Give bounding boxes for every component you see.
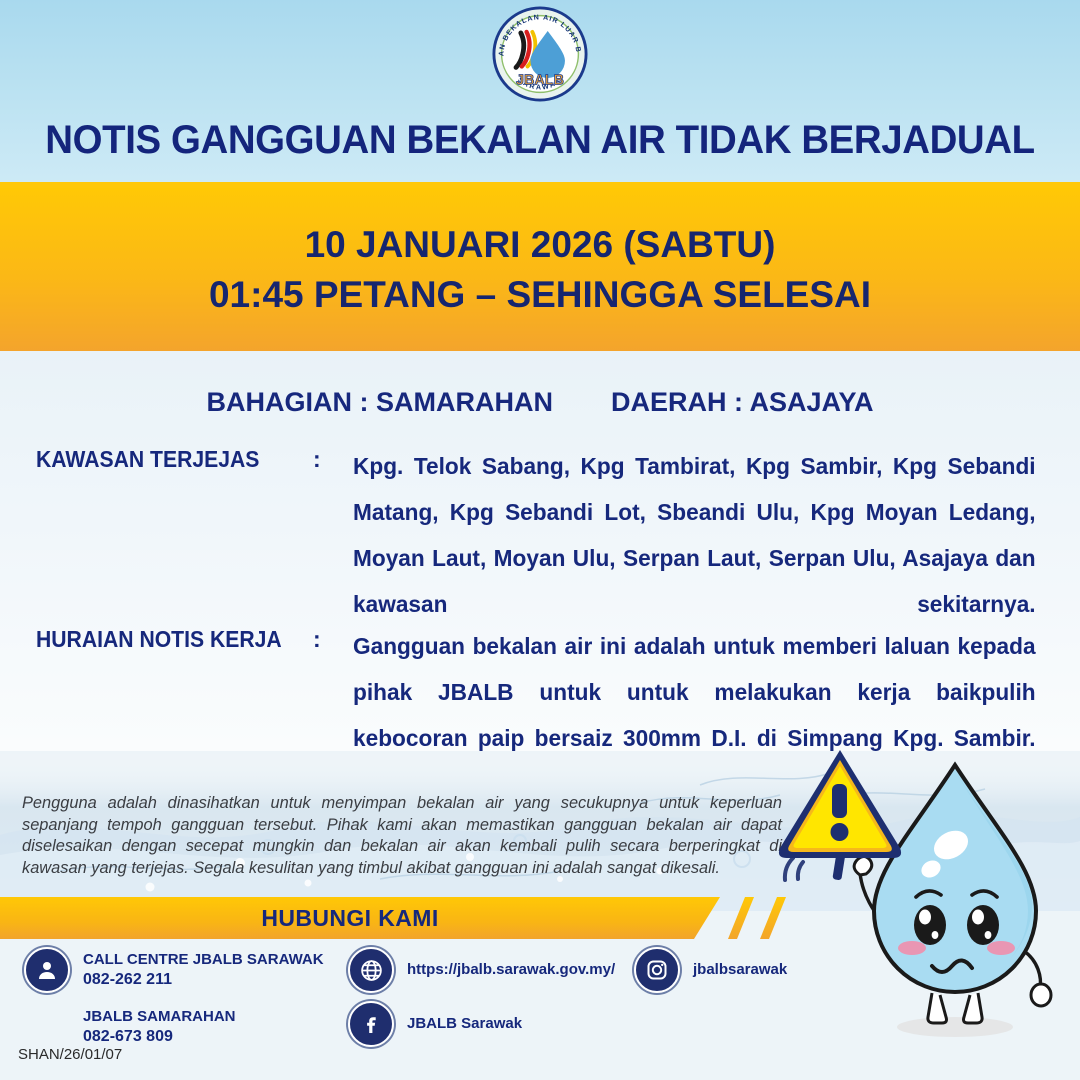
affected-areas-label: KAWASAN TERJEJAS <box>36 443 291 473</box>
poster-title: NOTIS GANGGUAN BEKALAN AIR TIDAK BERJADU… <box>22 118 1059 163</box>
contact-banner-title: HUBUNGI KAMI <box>0 897 700 939</box>
region-row: BAHAGIAN : SAMARAHAN DAERAH : ASAJAYA <box>0 387 1080 418</box>
facebook-icon <box>348 1001 394 1047</box>
work-description-colon: : <box>313 623 353 653</box>
notice-date: 10 JANUARI 2026 (SABTU) <box>305 224 776 266</box>
person-icon <box>24 947 70 993</box>
district-label: DAERAH : ASAJAYA <box>611 387 874 418</box>
reference-code: SHAN/26/01/07 <box>18 1046 122 1063</box>
date-band: 10 JANUARI 2026 (SABTU) 01:45 PETANG – S… <box>0 188 1080 351</box>
banner-stripe-1 <box>728 897 754 939</box>
call-centre-phone[interactable]: 082-262 211 <box>83 970 324 990</box>
jbalb-logo: JABATAN BEKALAN AIR LUAR BANDAR SARAWAK … <box>492 6 588 102</box>
instagram-handle[interactable]: jbalbsarawak <box>693 960 787 980</box>
contact-call-centre[interactable]: CALL CENTRE JBALB SARAWAK 082-262 211 <box>24 947 324 993</box>
warning-sign-icon <box>775 740 910 890</box>
banner-stripe-2 <box>760 897 786 939</box>
samarahan-name: JBALB SAMARAHAN <box>83 1007 236 1027</box>
website-url[interactable]: https://jbalb.sarawak.gov.my/ <box>407 960 615 980</box>
globe-icon <box>348 947 394 993</box>
contact-website[interactable]: https://jbalb.sarawak.gov.my/ <box>348 947 615 993</box>
instagram-icon <box>634 947 680 993</box>
header-band: JABATAN BEKALAN AIR LUAR BANDAR SARAWAK … <box>0 0 1080 188</box>
contact-jbalb-samarahan[interactable]: JBALB SAMARAHAN 082-673 809 <box>83 1007 236 1047</box>
contact-facebook[interactable]: JBALB Sarawak <box>348 1001 522 1047</box>
contact-banner: HUBUNGI KAMI <box>0 897 1080 939</box>
call-centre-name: CALL CENTRE JBALB SARAWAK <box>83 950 324 970</box>
advisory-text: Pengguna adalah dinasihatkan untuk menyi… <box>22 793 782 879</box>
details-section: BAHAGIAN : SAMARAHAN DAERAH : ASAJAYA KA… <box>0 351 1080 751</box>
affected-areas-colon: : <box>313 443 353 473</box>
poster-root: JABATAN BEKALAN AIR LUAR BANDAR SARAWAK … <box>0 0 1080 1080</box>
contact-instagram[interactable]: jbalbsarawak <box>634 947 787 993</box>
contacts-section: CALL CENTRE JBALB SARAWAK 082-262 211 JB… <box>0 939 1080 1080</box>
facebook-handle[interactable]: JBALB Sarawak <box>407 1014 522 1034</box>
samarahan-phone[interactable]: 082-673 809 <box>83 1027 236 1047</box>
work-description-label: HURAIAN NOTIS KERJA <box>36 623 291 653</box>
notice-time: 01:45 PETANG – SEHINGGA SELESAI <box>209 274 871 316</box>
division-label: BAHAGIAN : SAMARAHAN <box>206 387 552 418</box>
svg-text:JBALB: JBALB <box>516 73 564 89</box>
